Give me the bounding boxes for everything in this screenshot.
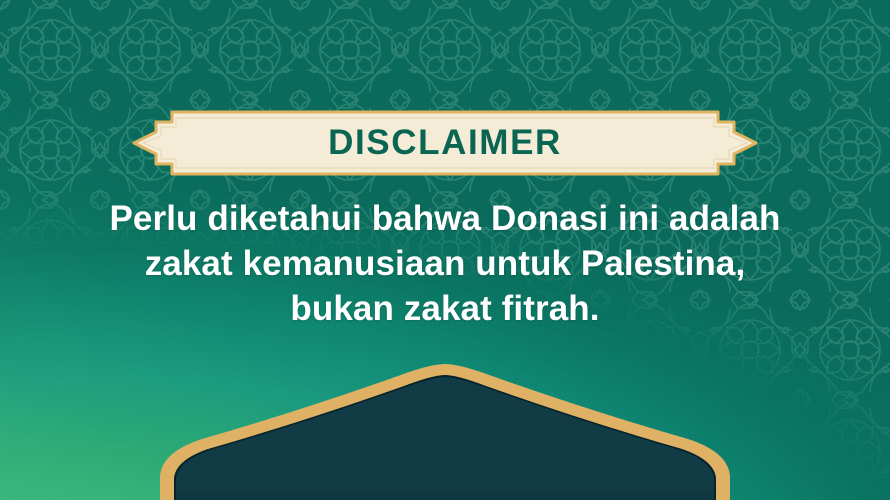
disclaimer-poster: DISCLAIMER Perlu diketahui bahwa Donasi … bbox=[0, 0, 890, 500]
message-line-1: Perlu diketahui bahwa Donasi ini adalah bbox=[48, 196, 842, 241]
mosque-dome-silhouette bbox=[0, 360, 890, 500]
message-line-2: zakat kemanusiaan untuk Palestina, bbox=[48, 241, 842, 286]
message-line-3: bukan zakat fitrah. bbox=[48, 286, 842, 331]
disclaimer-message: Perlu diketahui bahwa Donasi ini adalah … bbox=[0, 196, 890, 331]
page-title: DISCLAIMER bbox=[132, 110, 758, 176]
disclaimer-ribbon: DISCLAIMER bbox=[132, 110, 758, 176]
